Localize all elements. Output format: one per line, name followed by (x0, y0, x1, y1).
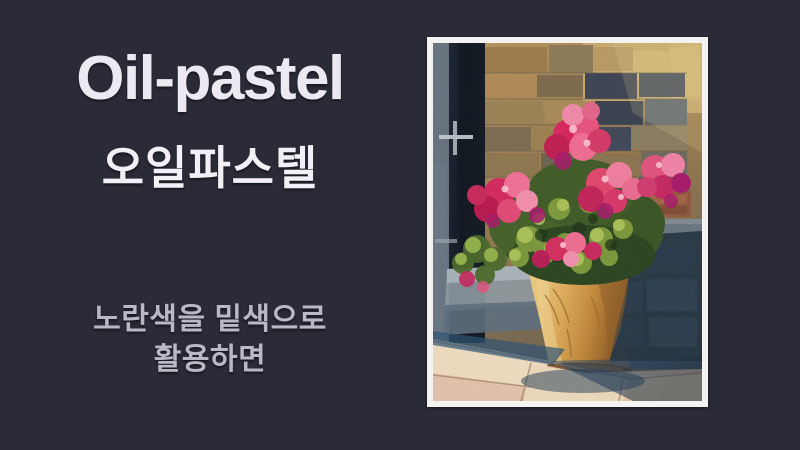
subtitle-korean: 오일파스텔 (0, 142, 420, 195)
painting-artwork (433, 43, 702, 401)
geranium-pot-painting (433, 43, 702, 401)
slide-canvas: Oil-pastel 오일파스텔 노란색을 밑색으로 활용하면 (0, 0, 800, 450)
caption-line-2: 활용하면 (0, 340, 420, 380)
page-title: Oil-pastel (0, 46, 420, 111)
caption-line-1: 노란색을 밑색으로 (0, 300, 420, 340)
text-column: Oil-pastel 오일파스텔 노란색을 밑색으로 활용하면 (0, 0, 420, 450)
caption-block: 노란색을 밑색으로 활용하면 (0, 300, 420, 379)
painting-frame (427, 37, 708, 407)
